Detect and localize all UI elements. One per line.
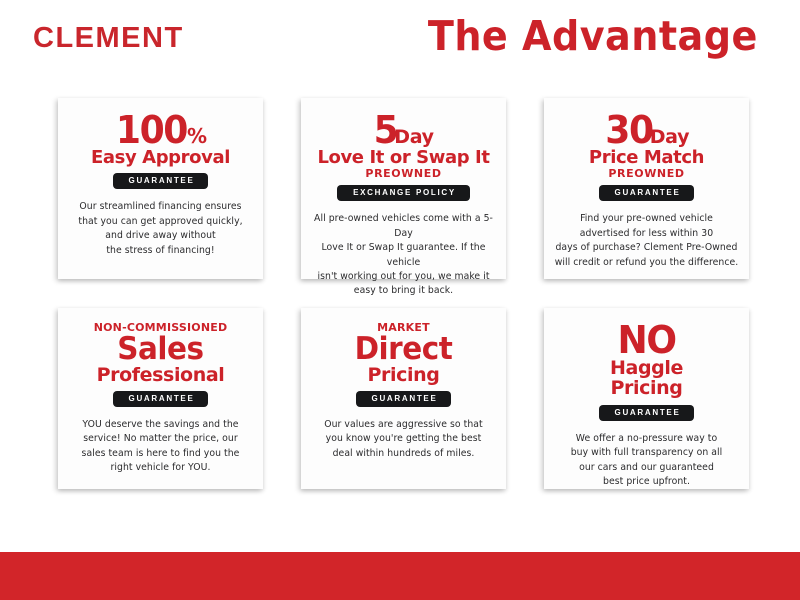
card-headline: 100 % Easy Approval: [91, 112, 230, 167]
card-suffix-text: Day: [394, 128, 434, 148]
card-big-text: Direct: [355, 335, 453, 364]
card-big-text: Sales: [117, 335, 203, 364]
card-headline: NO Haggle Pricing: [610, 322, 683, 399]
clement-logo: CLEMENT: [33, 24, 184, 53]
card-headline: MARKET Direct Pricing: [352, 322, 455, 385]
card-big-row: 100 %: [114, 112, 207, 148]
advantage-card-grid: 100 % Easy Approval GUARANTEE Our stream…: [58, 98, 748, 489]
card-headline: NON-COMMISSIONED Sales Professional: [94, 322, 228, 385]
advantage-card[interactable]: MARKET Direct Pricing GUARANTEE Our valu…: [301, 308, 506, 489]
card-body-text: Our values are aggressive so that you kn…: [324, 418, 482, 461]
page-title: The Advantage: [428, 14, 758, 59]
card-headline: 30 Day Price Match PREOWNED: [589, 112, 704, 179]
card-body-text: We offer a no-pressure way to buy with f…: [571, 432, 723, 490]
advantage-card[interactable]: 30 Day Price Match PREOWNED GUARANTEE Fi…: [544, 98, 749, 279]
card-big-row: NO: [616, 322, 677, 358]
card-body-text: YOU deserve the savings and the service!…: [82, 418, 240, 476]
card-big-text: 100: [116, 112, 187, 148]
card-subheading: Love It or Swap It: [317, 149, 489, 167]
card-subheading: Pricing: [368, 366, 440, 385]
card-body-text: All pre-owned vehicles come with a 5-Day…: [311, 212, 496, 298]
card-headline: 5 Day Love It or Swap It PREOWNED: [317, 112, 489, 179]
footer-red-bar: [0, 552, 800, 600]
card-suffix-text: Day: [650, 128, 690, 148]
card-big-row: Sales: [115, 335, 206, 364]
card-subheading-2: Pricing: [611, 379, 683, 398]
advantage-card[interactable]: 5 Day Love It or Swap It PREOWNED EXCHAN…: [301, 98, 506, 279]
card-big-text: 30: [605, 112, 652, 148]
guarantee-badge: GUARANTEE: [599, 405, 695, 421]
card-subheading: Haggle: [610, 359, 683, 378]
card-subheading-secondary: PREOWNED: [365, 168, 441, 179]
page-header: CLEMENT The Advantage: [0, 0, 800, 72]
card-subheading-secondary: PREOWNED: [608, 168, 684, 179]
guarantee-badge: GUARANTEE: [599, 185, 695, 201]
advantage-card[interactable]: NON-COMMISSIONED Sales Professional GUAR…: [58, 308, 263, 489]
guarantee-badge: GUARANTEE: [113, 173, 209, 189]
card-suffix-text: %: [187, 127, 207, 148]
card-subheading: Professional: [97, 366, 225, 385]
card-big-row: Direct: [352, 335, 455, 364]
card-big-text: NO: [617, 322, 675, 358]
card-body-text: Find your pre-owned vehicle advertised f…: [555, 212, 739, 270]
guarantee-badge: GUARANTEE: [356, 391, 452, 407]
advantage-card[interactable]: NO Haggle Pricing GUARANTEE We offer a n…: [544, 308, 749, 489]
card-body-text: Our streamlined financing ensures that y…: [78, 200, 242, 258]
guarantee-badge: GUARANTEE: [113, 391, 209, 407]
exchange-policy-badge: EXCHANGE POLICY: [337, 185, 470, 201]
advantage-card[interactable]: 100 % Easy Approval GUARANTEE Our stream…: [58, 98, 263, 279]
card-big-row: 30 Day: [604, 112, 689, 148]
card-big-row: 5 Day: [373, 112, 433, 148]
card-big-text: 5: [374, 112, 398, 148]
